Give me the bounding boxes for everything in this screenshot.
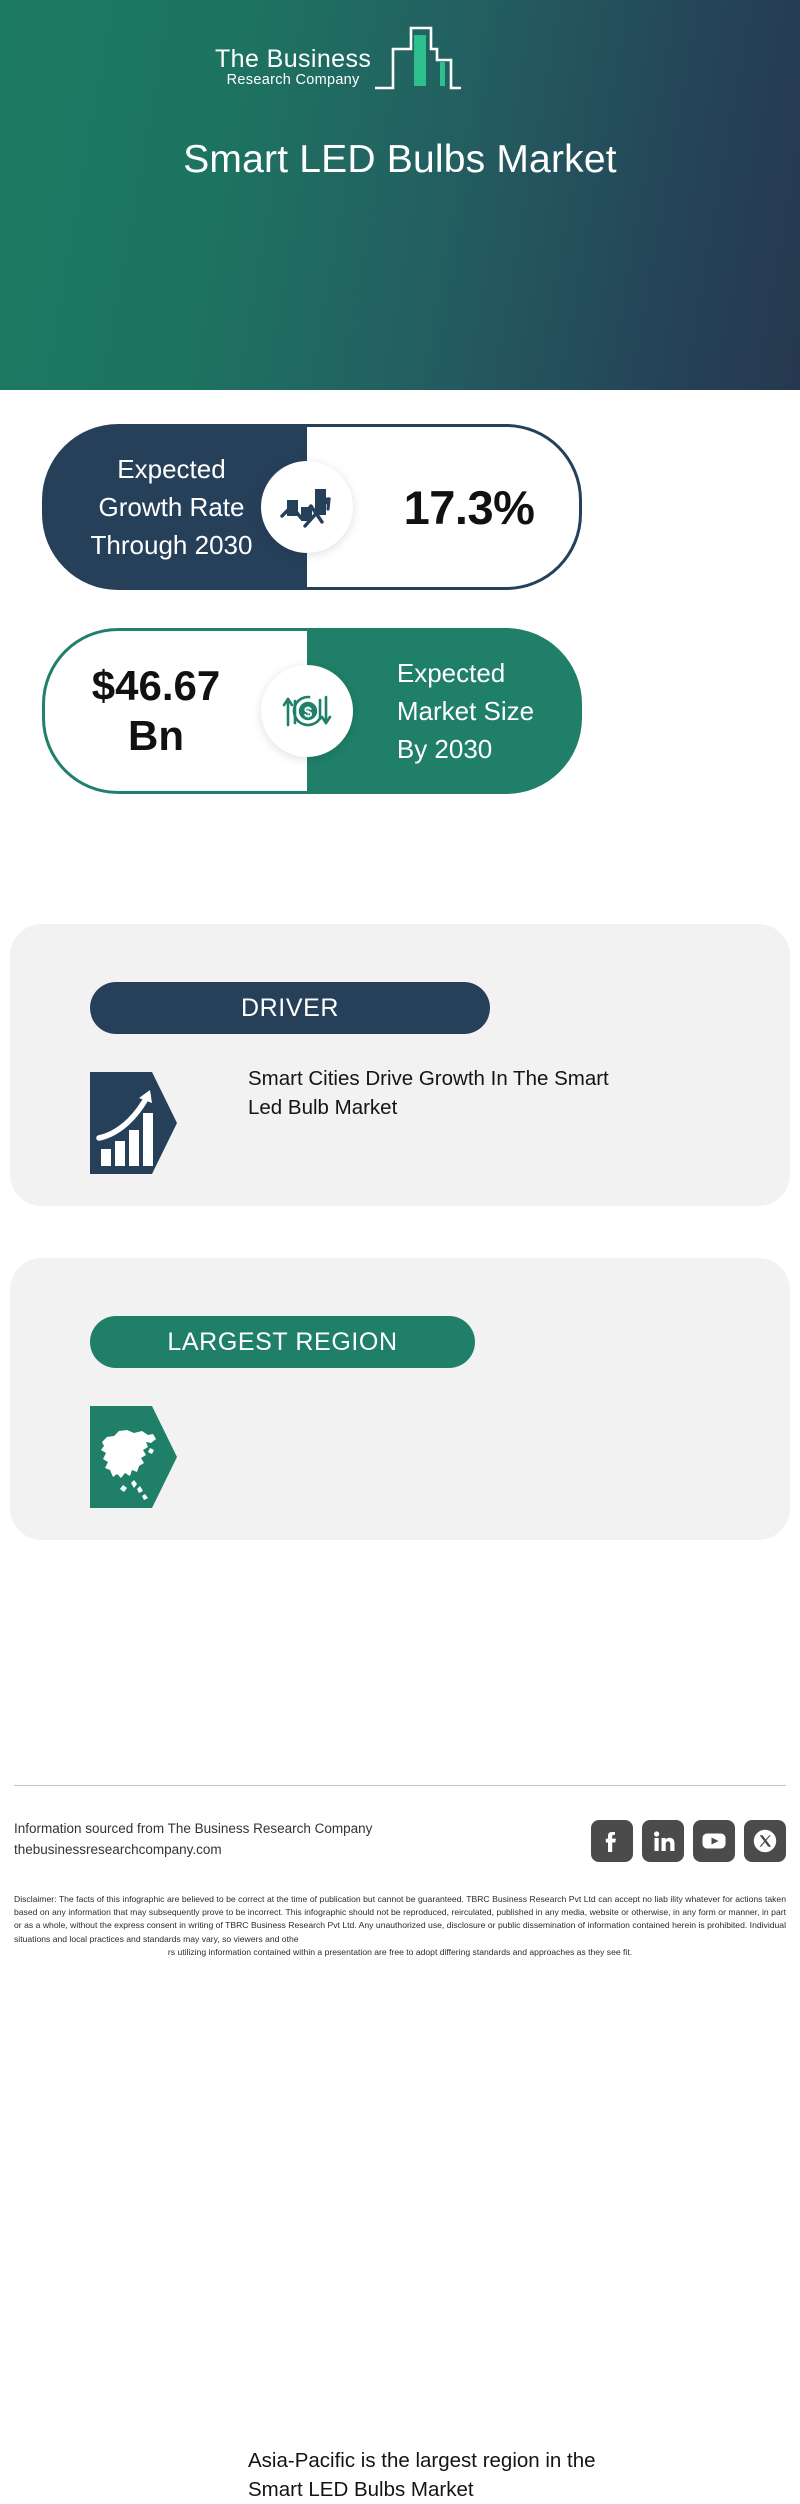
asia-map-hex-icon bbox=[90, 1406, 177, 1508]
footer-divider bbox=[14, 1785, 786, 1786]
growth-bars-arrow-hex-icon bbox=[90, 1072, 177, 1174]
driver-description: Smart Cities Drive Growth In The Smart L… bbox=[248, 1064, 618, 1122]
largest-region-description: Asia-Pacific is the largest region in th… bbox=[248, 2446, 618, 2504]
page-title: Smart LED Bulbs Market bbox=[0, 138, 800, 182]
logo-subtitle-line: Research Company bbox=[227, 72, 360, 88]
stat-card-growth-value: 17.3% bbox=[352, 480, 535, 535]
market-label-line-2: Market Size bbox=[397, 696, 534, 726]
stat-card-market-value: $46.67 Bn bbox=[92, 661, 260, 761]
facebook-icon[interactable] bbox=[591, 1820, 633, 1862]
growth-chart-arrow-icon bbox=[261, 461, 353, 553]
stat-card-growth-label: Expected Growth Rate Through 2030 bbox=[91, 450, 259, 564]
youtube-icon[interactable] bbox=[693, 1820, 735, 1862]
disclaimer-last-line: rs utilizing information contained withi… bbox=[14, 1946, 786, 1959]
stat-card-market-label: Expected Market Size By 2030 bbox=[355, 654, 534, 768]
market-label-line-1: Expected bbox=[397, 658, 505, 688]
logo-title-line: The Business bbox=[215, 46, 371, 72]
stat-label-line-2: Growth Rate bbox=[99, 492, 245, 522]
stat-label-line-1: Expected bbox=[117, 454, 225, 484]
stat-label-line-3: Through 2030 bbox=[91, 530, 253, 560]
largest-region-badge: LARGEST REGION bbox=[90, 1316, 475, 1368]
driver-badge: DRIVER bbox=[90, 982, 490, 1034]
svg-text:$: $ bbox=[304, 704, 313, 721]
bar-chart-logo-mark bbox=[373, 22, 463, 92]
market-label-line-3: By 2030 bbox=[397, 734, 492, 764]
attribution-line-1: Information sourced from The Business Re… bbox=[14, 1818, 372, 1839]
stat-card-market-size: $46.67 Bn Expected Market Size By 2030 $ bbox=[42, 628, 582, 794]
footer-attribution: Information sourced from The Business Re… bbox=[14, 1818, 372, 1860]
dollar-circulation-icon: $ bbox=[261, 665, 353, 757]
largest-region-section: LARGEST REGION Asia-Pacific is the large… bbox=[10, 1258, 790, 1540]
linkedin-icon[interactable] bbox=[642, 1820, 684, 1862]
footer-disclaimer: Disclaimer: The facts of this infographi… bbox=[14, 1893, 786, 1959]
logo-text: The Business Research Company bbox=[215, 46, 371, 92]
x-twitter-icon[interactable] bbox=[744, 1820, 786, 1862]
stat-card-growth-rate: Expected Growth Rate Through 2030 17.3% bbox=[42, 424, 582, 590]
header-banner: The Business Research Company Smart LED … bbox=[0, 0, 800, 390]
driver-section: DRIVER Smart Cities Drive Growth In The … bbox=[10, 924, 790, 1206]
company-logo: The Business Research Company bbox=[215, 22, 463, 92]
social-links bbox=[591, 1820, 786, 1862]
disclaimer-body: Disclaimer: The facts of this infographi… bbox=[14, 1894, 786, 1944]
market-value-line-2: Bn bbox=[128, 712, 184, 759]
market-value-line-1: $46.67 bbox=[92, 662, 220, 709]
attribution-line-2[interactable]: thebusinessresearchcompany.com bbox=[14, 1839, 372, 1860]
